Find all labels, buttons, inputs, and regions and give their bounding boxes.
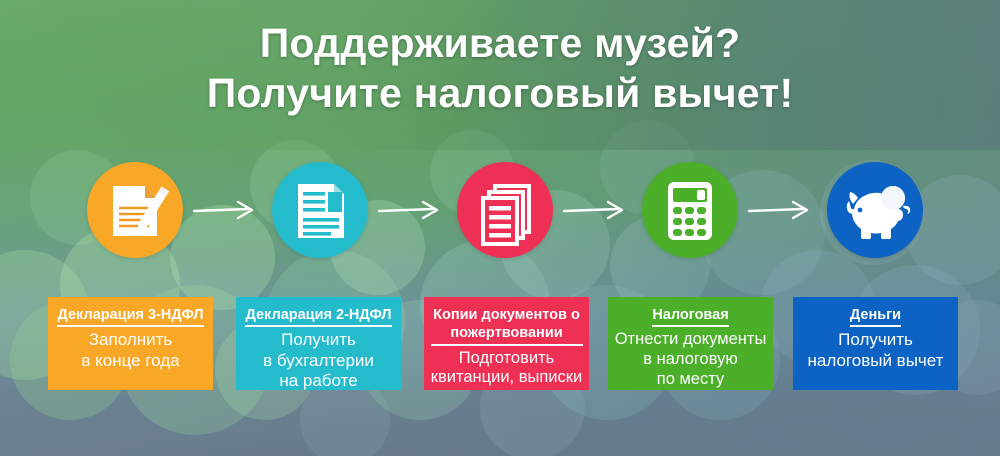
calculator-icon — [642, 162, 738, 258]
step-5-icon-circle — [827, 162, 923, 258]
step-5-body-line-2: налоговый вычет — [799, 351, 952, 371]
step-1-card: Декларация 3-НДФЛ Заполнить в конце года — [48, 297, 213, 390]
arrow-3 — [562, 199, 632, 221]
step-2-body-line-1: Получить — [242, 330, 395, 350]
step-4-card-body: Отнести документы в налоговую по месту ж… — [614, 330, 767, 390]
arrow-right-icon — [747, 199, 817, 221]
step-4-card-title: Налоговая — [652, 306, 728, 327]
step-4-icon-circle — [642, 162, 738, 258]
step-2-body-line-2: в бухгалтерии — [242, 351, 395, 371]
step-1-card-body: Заполнить в конце года — [54, 330, 207, 371]
step-2-card-title: Декларация 2-НДФЛ — [245, 306, 391, 327]
step-4-body-line-3: по месту жительства — [614, 370, 767, 390]
step-2-body-line-3: на работе — [242, 371, 395, 390]
document-text-icon — [272, 162, 368, 258]
document-copies-icon — [457, 162, 553, 258]
step-4-card: Налоговая Отнести документы в налоговую … — [608, 297, 773, 390]
step-5-card: Деньги Получить налоговый вычет — [793, 297, 958, 390]
step-5-card-body: Получить налоговый вычет — [799, 330, 952, 371]
step-3-body-line-1: Подготовить — [430, 349, 583, 369]
step-icon-row — [0, 162, 1000, 258]
step-2-card-body: Получить в бухгалтерии на работе — [242, 330, 395, 390]
piggy-bank-icon — [827, 162, 923, 258]
step-1-body-line-2: в конце года — [54, 351, 207, 371]
arrow-right-icon — [562, 199, 632, 221]
step-1-icon-circle — [87, 162, 183, 258]
arrow-right-icon — [192, 199, 262, 221]
step-4-body-line-1: Отнести документы — [614, 330, 767, 350]
step-3-icon-circle — [457, 162, 553, 258]
headline-line-1: Поддерживаете музей? — [260, 20, 741, 66]
headline-line-2: Получите налоговый вычет! — [0, 68, 1000, 118]
step-5-card-title: Деньги — [850, 306, 901, 327]
step-2-icon-circle — [272, 162, 368, 258]
infographic-banner: Поддерживаете музей? Получите налоговый … — [0, 0, 1000, 456]
step-3-card-title: Копии документов о пожертвовании — [431, 306, 583, 346]
page-title: Поддерживаете музей? Получите налоговый … — [0, 18, 1000, 118]
arrow-4 — [747, 199, 817, 221]
step-5-body-line-1: Получить — [799, 330, 952, 350]
step-3-card-body: Подготовить квитанции, выписки — [430, 349, 583, 389]
step-4-body-line-2: в налоговую — [614, 350, 767, 370]
arrow-2 — [377, 199, 447, 221]
arrow-right-icon — [377, 199, 447, 221]
step-1-body-line-1: Заполнить — [54, 330, 207, 350]
step-1-card-title: Декларация 3-НДФЛ — [57, 306, 203, 327]
document-pencil-icon — [87, 162, 183, 258]
arrow-1 — [192, 199, 262, 221]
step-3-card: Копии документов о пожертвовании Подгото… — [424, 297, 589, 390]
step-3-body-line-2: квитанции, выписки — [430, 368, 583, 388]
step-2-card: Декларация 2-НДФЛ Получить в бухгалтерии… — [236, 297, 401, 390]
